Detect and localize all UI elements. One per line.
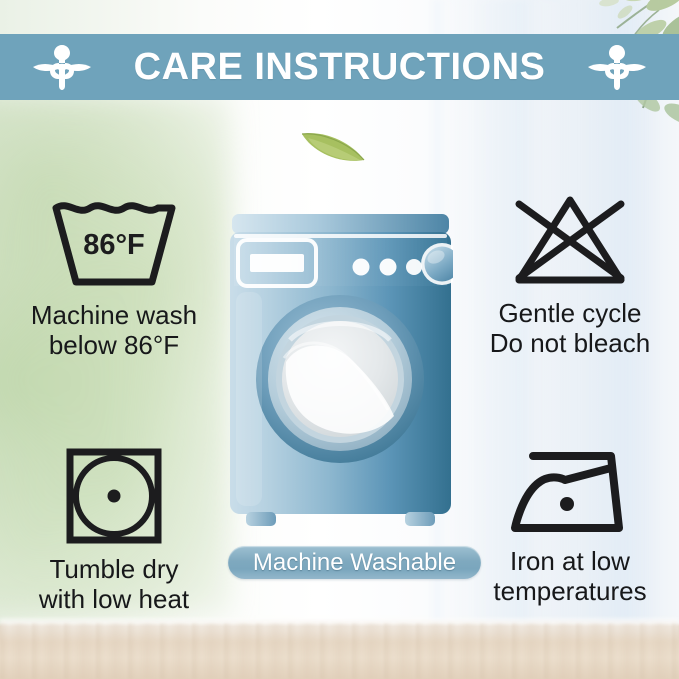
care-symbol-iron: Iron at low temperatures xyxy=(470,446,670,606)
badge-label: Machine Washable xyxy=(253,551,456,575)
wash-tub-icon: 86°F xyxy=(48,196,180,292)
caption-line-2: temperatures xyxy=(493,576,646,606)
control-dot xyxy=(380,259,397,276)
wash-temperature-value: 86°F xyxy=(83,229,145,261)
caption-line-2: with low heat xyxy=(39,584,189,614)
care-symbol-caption: Iron at low temperatures xyxy=(493,546,646,606)
care-symbol-caption: Tumble dry with low heat xyxy=(39,554,189,614)
caption-line-2: Do not bleach xyxy=(490,328,650,358)
caption-line-1: Gentle cycle xyxy=(490,298,650,328)
care-symbol-caption: Gentle cycle Do not bleach xyxy=(490,298,650,358)
caption-line-1: Tumble dry xyxy=(39,554,189,584)
care-symbol-do-not-bleach: Gentle cycle Do not bleach xyxy=(470,190,670,358)
machine-washable-badge: Machine Washable xyxy=(228,546,481,579)
care-symbol-tumble-dry: Tumble dry with low heat xyxy=(14,446,214,614)
caption-line-1: Iron at low xyxy=(493,546,646,576)
iron-icon xyxy=(507,446,633,538)
control-dot xyxy=(353,259,370,276)
floating-leaf-icon xyxy=(298,122,368,168)
care-symbol-machine-wash: 86°F Machine wash below 86°F xyxy=(14,196,214,360)
caption-line-1: Machine wash xyxy=(31,300,197,330)
page-title: CARE INSTRUCTIONS xyxy=(0,34,679,100)
control-dot xyxy=(406,259,422,275)
care-symbol-caption: Machine wash below 86°F xyxy=(31,300,197,360)
washing-machine-illustration xyxy=(228,212,453,537)
machine-foot xyxy=(246,512,276,526)
caption-line-2: below 86°F xyxy=(31,330,197,360)
tumble-dry-icon xyxy=(64,446,164,546)
machine-foot xyxy=(405,512,435,526)
washer-door xyxy=(256,295,424,463)
do-not-bleach-triangle-icon xyxy=(505,190,635,290)
wood-grain-texture xyxy=(0,623,679,679)
infographic-canvas: CARE INSTRUCTIONS 86°F Machine wash belo… xyxy=(0,0,679,679)
